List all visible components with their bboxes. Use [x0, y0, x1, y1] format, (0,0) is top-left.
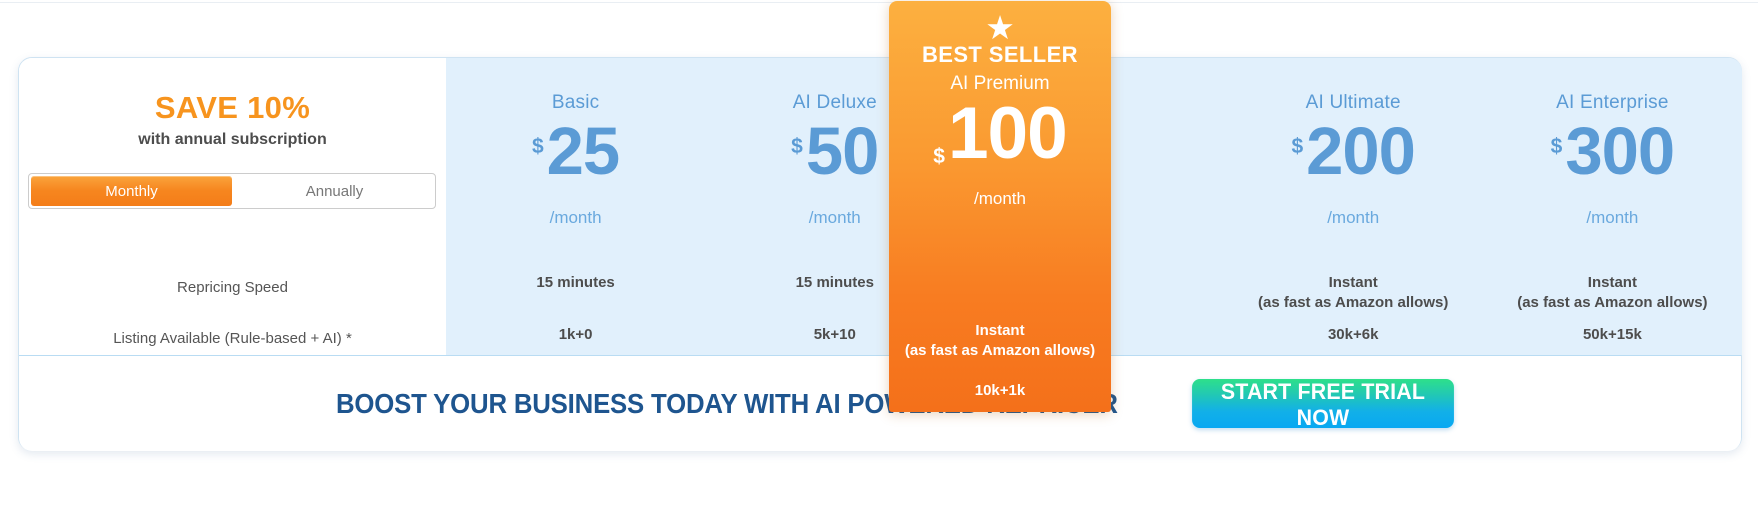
- star-icon: ★: [889, 13, 1111, 43]
- cell-listing-available: 1k+0: [446, 326, 705, 343]
- plan-price: $ 25: [446, 120, 705, 198]
- toggle-option-annually[interactable]: Annually: [234, 174, 435, 208]
- billing-cycle-toggle[interactable]: Monthly Annually: [28, 173, 436, 209]
- cell-repricing-speed: Instant (as fast as Amazon allows): [1224, 273, 1483, 314]
- cell-line-2: (as fast as Amazon allows): [889, 341, 1111, 361]
- plan-name: AI Enterprise: [1483, 92, 1742, 114]
- plan-price: $ 300: [1483, 120, 1742, 198]
- cell-listing-available: 30k+6k: [1224, 326, 1483, 343]
- plan-name: Basic: [446, 92, 705, 114]
- price-amount: 200: [1306, 120, 1415, 184]
- price-amount: 25: [547, 120, 620, 184]
- currency-symbol: $: [1291, 136, 1303, 157]
- cell-line-2: (as fast as Amazon allows): [1224, 293, 1483, 313]
- plan-column-ai-enterprise[interactable]: AI Enterprise $ 300 /month Instant (as f…: [1483, 58, 1742, 355]
- price-period: /month: [1483, 208, 1742, 228]
- plan-name: AI Ultimate: [1224, 92, 1483, 114]
- start-free-trial-button[interactable]: START FREE TRIAL NOW: [1192, 379, 1454, 428]
- plan-price: $ 100: [889, 99, 1111, 181]
- currency-symbol: $: [933, 146, 945, 167]
- cell-line-1: Instant: [1224, 273, 1483, 293]
- billing-options-panel: SAVE 10% with annual subscription Monthl…: [19, 58, 446, 355]
- cell-listing-available: 50k+15k: [1483, 326, 1742, 343]
- price-amount: 100: [948, 99, 1067, 168]
- pricing-page: ENTERPRISE PLANS SAVE 10% with annual su…: [0, 0, 1758, 514]
- cell-repricing-speed: Instant (as fast as Amazon allows): [1483, 273, 1742, 314]
- feature-row-label-repricing-speed: Repricing Speed: [19, 279, 446, 296]
- best-seller-badge: BEST SELLER: [889, 43, 1111, 67]
- pricing-table-card: SAVE 10% with annual subscription Monthl…: [18, 57, 1742, 451]
- plan-column-basic[interactable]: Basic $ 25 /month 15 minutes 1k+0: [446, 58, 705, 355]
- save-subtext: with annual subscription: [19, 131, 446, 149]
- toggle-option-monthly[interactable]: Monthly: [31, 176, 232, 206]
- currency-symbol: $: [532, 136, 544, 157]
- cta-bar: BOOST YOUR BUSINESS TODAY WITH AI POWERE…: [19, 356, 1741, 451]
- plan-price: $ 200: [1224, 120, 1483, 198]
- cell-line-1: Instant: [1483, 273, 1742, 293]
- cell-repricing-speed: Instant (as fast as Amazon allows): [889, 321, 1111, 362]
- cell-line-1: 15 minutes: [446, 273, 705, 293]
- page-top-headline: ENTERPRISE PLANS: [150, 0, 550, 4]
- currency-symbol: $: [1551, 136, 1563, 157]
- save-headline: SAVE 10%: [19, 90, 446, 126]
- cell-line-2: (as fast as Amazon allows): [1483, 293, 1742, 313]
- currency-symbol: $: [791, 136, 803, 157]
- plan-column-ai-ultimate[interactable]: AI Ultimate $ 200 /month Instant (as fas…: [1224, 58, 1483, 355]
- cell-listing-available: 10k+1k: [889, 382, 1111, 399]
- plan-name: AI Premium: [889, 73, 1111, 95]
- price-period: /month: [446, 208, 705, 228]
- feature-row-label-listing-available: Listing Available (Rule-based + AI) *: [19, 330, 446, 347]
- price-period: /month: [1224, 208, 1483, 228]
- cell-line-1: Instant: [889, 321, 1111, 341]
- cell-repricing-speed: 15 minutes: [446, 273, 705, 293]
- price-amount: 50: [806, 120, 879, 184]
- price-amount: 300: [1565, 120, 1674, 184]
- best-seller-plan-card[interactable]: ★ BEST SELLER AI Premium $ 100 /month In…: [889, 1, 1111, 412]
- price-period: /month: [889, 189, 1111, 209]
